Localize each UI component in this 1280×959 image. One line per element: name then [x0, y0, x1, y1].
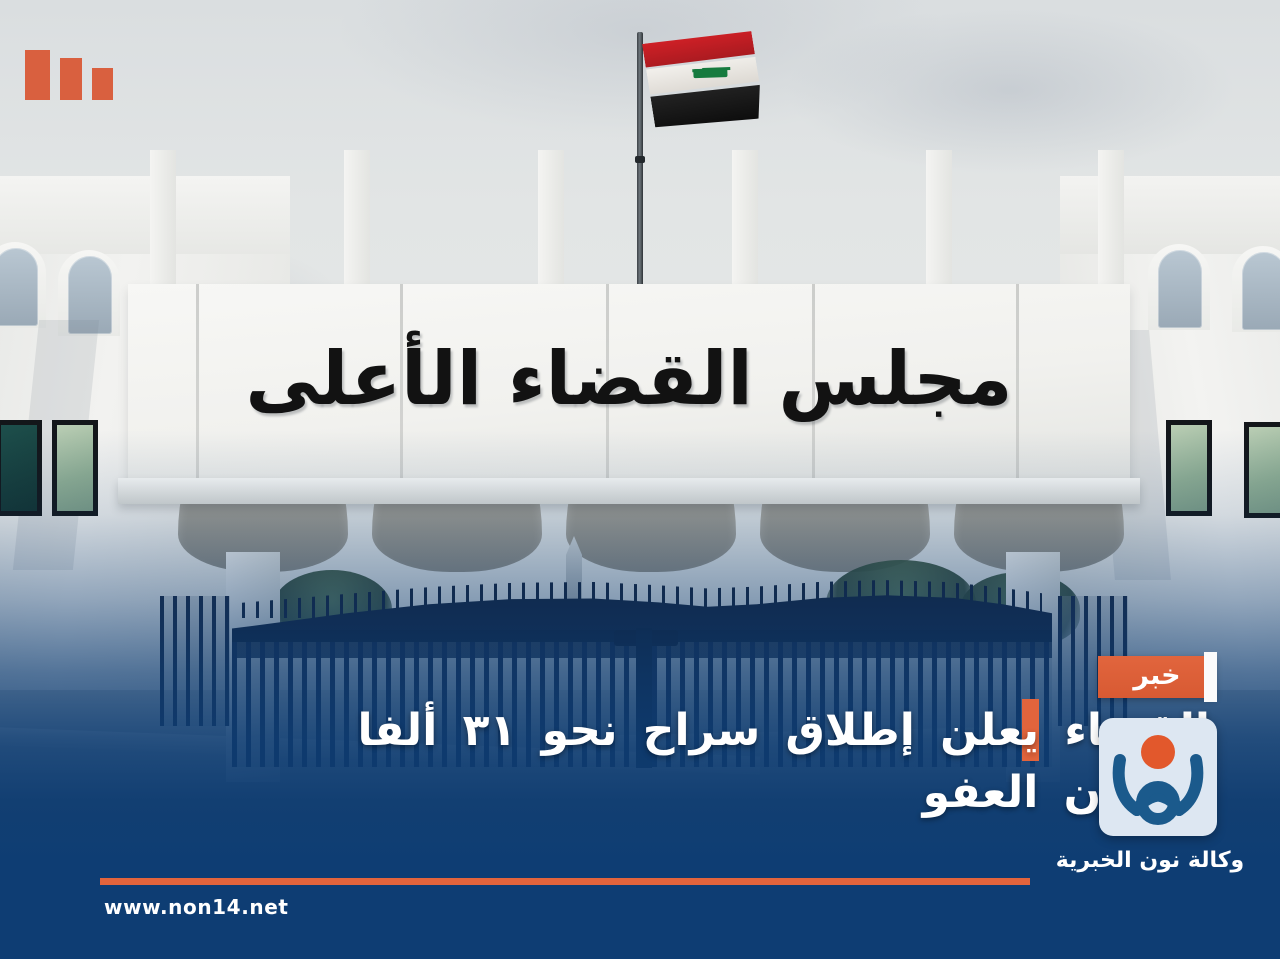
bar-small-icon — [92, 68, 113, 100]
footer-divider — [100, 878, 1030, 885]
arched-window — [1158, 250, 1202, 328]
news-badge: خبر — [1098, 656, 1216, 698]
news-badge-white-bar-icon — [1204, 652, 1217, 702]
arched-window — [1242, 252, 1280, 330]
three-bars-mark-icon — [25, 50, 113, 100]
agency-logo-tile — [1099, 718, 1217, 836]
parapet-right — [1060, 176, 1280, 254]
bar-large-icon — [25, 50, 50, 100]
headline-line-1: القضاء يعلن إطلاق سراح نحو ٣١ ألفا — [357, 705, 1210, 756]
flag-inscription — [693, 68, 727, 78]
bar-medium-icon — [60, 58, 82, 100]
arched-window — [0, 248, 38, 326]
website-url: www.non14.net — [104, 895, 289, 919]
noon-letter-logo-icon — [1099, 718, 1217, 836]
news-badge-label: خبر — [1133, 662, 1180, 692]
flagpole — [637, 32, 643, 290]
iraqi-flag-icon — [642, 27, 765, 135]
headline: القضاء يعلن إطلاق سراح نحو ٣١ ألفا بقانو… — [230, 700, 1210, 825]
headline-line-2: بقانون العفو — [230, 762, 1210, 824]
parapet-left — [0, 176, 290, 254]
agency-name: وكالة نون الخبرية — [1030, 848, 1270, 873]
news-graphic-card: مجلس القضاء الأعلى خ — [0, 0, 1280, 959]
